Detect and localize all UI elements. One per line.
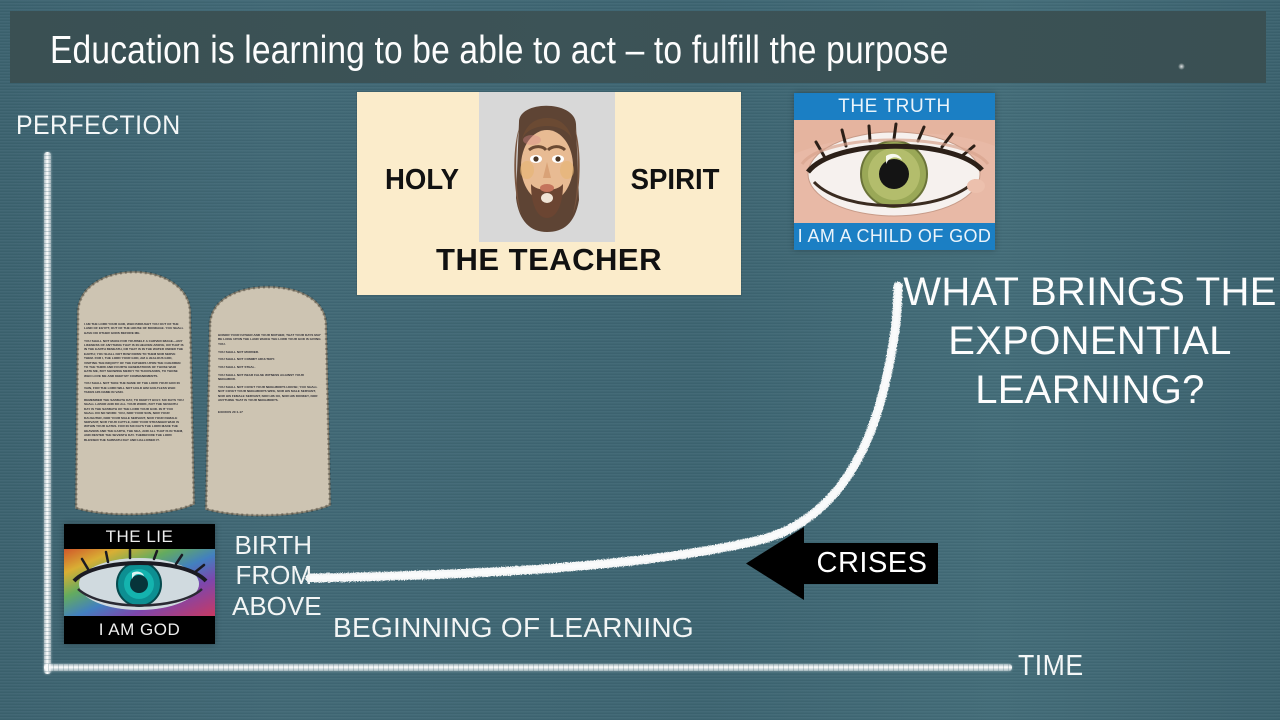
tablet-right-text: HONOR YOUR FATHER AND YOUR MOTHER, THAT … — [218, 333, 322, 417]
lie-bottom-label: I AM GOD — [64, 616, 215, 644]
tablet-paragraph: YOU SHALL NOT MAKE FOR YOURSELF A CARVED… — [84, 339, 184, 379]
colorful-eye-photo — [64, 549, 215, 616]
stone-tablet-left: I AM THE LORD YOUR GOD, WHO BROUGHT YOU … — [68, 268, 200, 520]
birth-line-1: BIRTH — [232, 530, 312, 560]
birth-line-2: FROM — [232, 560, 312, 590]
teacher-holy-label: HOLY — [385, 164, 459, 197]
question-line-1: WHAT BRINGS THE — [900, 268, 1280, 317]
beginning-of-learning-label: BEGINNING OF LEARNING — [333, 612, 694, 644]
colorful-eye-illustration — [64, 549, 215, 616]
truth-eye-card: THE TRUTH I AM A CHILD OF GOD — [794, 93, 995, 250]
teacher-caption: THE TEACHER — [357, 242, 741, 278]
tablet-paragraph: YOU SHALL NOT BEAR FALSE WITNESS AGAINST… — [218, 373, 322, 382]
jesus-portrait — [479, 92, 615, 242]
question-line-2: EXPONENTIAL — [900, 317, 1280, 366]
crises-arrow: CRISES — [746, 527, 938, 600]
green-eye-photo — [794, 120, 995, 223]
tablet-left-text: I AM THE LORD YOUR GOD, WHO BROUGHT YOU … — [84, 322, 184, 445]
jesus-portrait-illustration — [479, 92, 615, 242]
truth-top-label: THE TRUTH — [794, 93, 995, 120]
tablet-paragraph: YOU SHALL NOT MURDER. — [218, 350, 322, 354]
tablet-paragraph: YOU SHALL NOT STEAL. — [218, 365, 322, 369]
tablet-scripture-reference: EXODUS 20:1-17 — [218, 410, 322, 414]
stone-tablet-right: HONOR YOUR FATHER AND YOUR MOTHER, THAT … — [198, 283, 338, 520]
lie-eye-card: THE LIE — [64, 524, 215, 644]
birth-line-3: ABOVE — [232, 591, 312, 621]
question-text: WHAT BRINGS THE EXPONENTIAL LEARNING? — [900, 268, 1280, 416]
lie-top-label: THE LIE — [64, 524, 215, 549]
teacher-panel: HOLY SPIRIT THE TEACHER — [357, 92, 741, 295]
green-eye-illustration — [794, 120, 995, 223]
crises-label: CRISES — [806, 527, 938, 600]
tablet-paragraph: YOU SHALL NOT COVET YOUR NEIGHBOR'S HOUS… — [218, 385, 322, 403]
birth-from-above-label: BIRTH FROM ABOVE — [232, 530, 312, 621]
tablet-paragraph: YOU SHALL NOT TAKE THE NAME OF THE LORD … — [84, 381, 184, 394]
slide-canvas: Education is learning to be able to act … — [0, 0, 1280, 720]
question-line-3: LEARNING? — [900, 366, 1280, 415]
tablet-paragraph: HONOR YOUR FATHER AND YOUR MOTHER, THAT … — [218, 333, 322, 346]
tablet-paragraph: I AM THE LORD YOUR GOD, WHO BROUGHT YOU … — [84, 322, 184, 335]
tablet-paragraph: YOU SHALL NOT COMMIT ADULTERY. — [218, 357, 322, 361]
tablet-paragraph: REMEMBER THE SABBATH DAY, TO KEEP IT HOL… — [84, 398, 184, 442]
teacher-spirit-label: SPIRIT — [630, 164, 719, 197]
truth-bottom-label: I AM A CHILD OF GOD — [794, 223, 995, 250]
